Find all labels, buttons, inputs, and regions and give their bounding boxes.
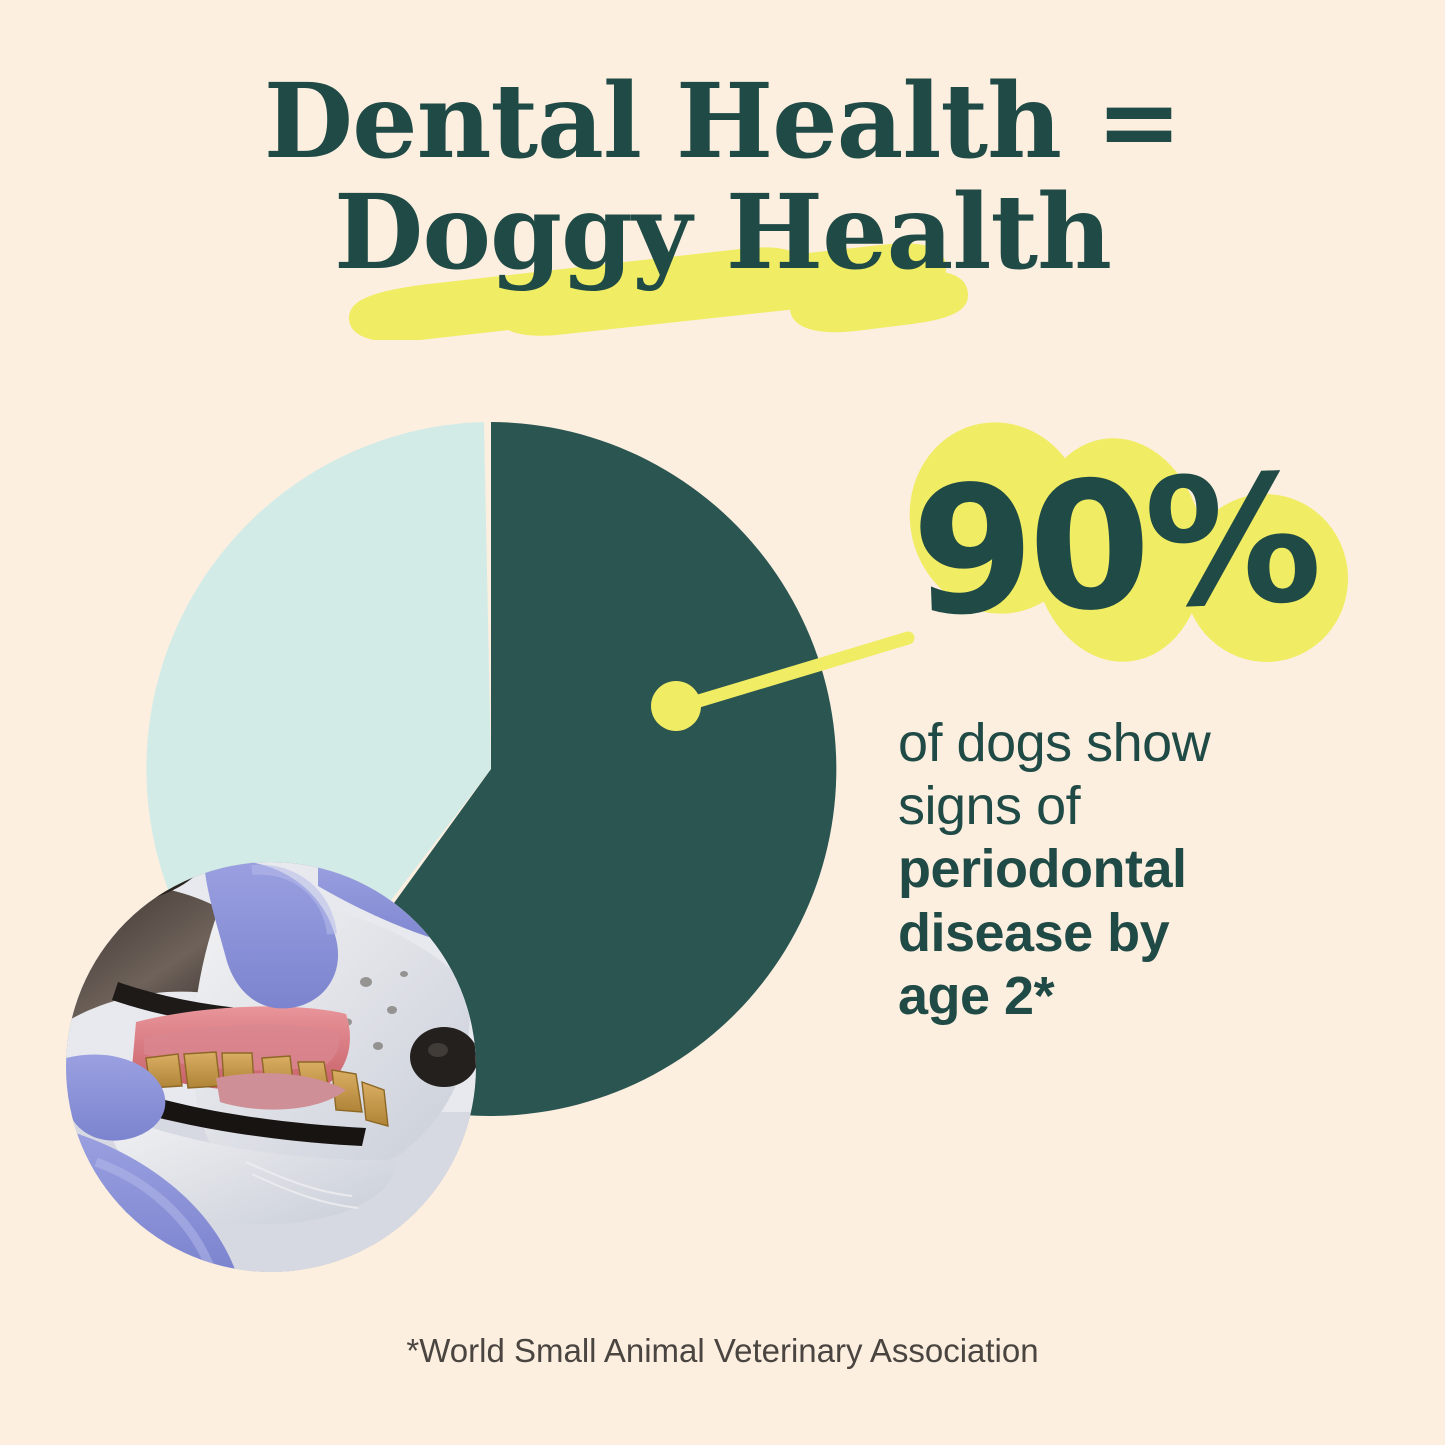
infographic-canvas: Dental Health = Doggy Health bbox=[0, 0, 1445, 1445]
copy-line-5: age 2* bbox=[898, 965, 1378, 1028]
title-line-2: Doggy Health bbox=[0, 177, 1445, 288]
callout-body: of dogs show signs of periodontal diseas… bbox=[898, 712, 1378, 1028]
copy-line-2: signs of bbox=[898, 775, 1378, 838]
title-line-1: Dental Health = bbox=[0, 66, 1445, 177]
copy-line-4: disease by bbox=[898, 902, 1378, 965]
percent-value: 90% bbox=[885, 392, 1375, 699]
copy-line-3: periodontal bbox=[898, 838, 1378, 901]
footnote-source: *World Small Animal Veterinary Associati… bbox=[0, 1332, 1445, 1370]
percent-callout: 90% bbox=[890, 400, 1370, 690]
leader-line bbox=[682, 638, 908, 706]
dog-teeth-photo-svg bbox=[66, 862, 476, 1272]
leader-dot bbox=[651, 681, 701, 731]
copy-line-1: of dogs show bbox=[898, 712, 1378, 775]
page-title: Dental Health = Doggy Health bbox=[0, 66, 1445, 288]
dog-teeth-photo bbox=[66, 862, 476, 1272]
